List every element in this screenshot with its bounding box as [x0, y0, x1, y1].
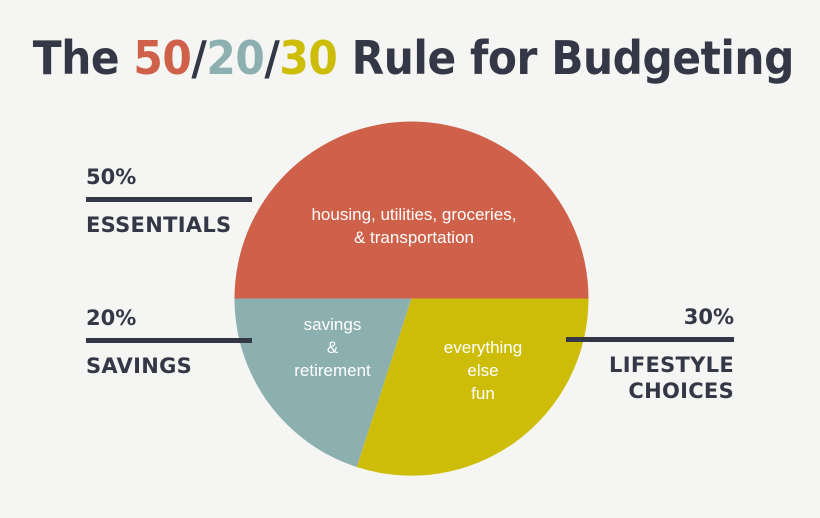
callout-lifestyle: 30% LIFESTYLE CHOICES: [566, 307, 734, 405]
callout-lifestyle-label-line1: LIFESTYLE: [566, 352, 734, 378]
pie-label-lifestyle: everything else fun: [408, 337, 558, 406]
title-part-rule: Rule for Budgeting: [337, 31, 794, 85]
callout-savings-percent: 20%: [86, 308, 252, 329]
pie-chart-svg: [234, 121, 589, 476]
callout-lifestyle-label-line2: CHOICES: [566, 378, 734, 404]
callout-essentials-percent: 50%: [86, 167, 252, 188]
title-number-20: 20: [206, 31, 264, 85]
callout-lifestyle-rule: [566, 337, 734, 342]
callout-savings-rule: [86, 338, 252, 343]
pie-label-savings-line3: retirement: [254, 360, 411, 383]
pie-label-lifestyle-line1: everything: [408, 337, 558, 360]
page-title: The 50/20/30 Rule for Budgeting: [33, 33, 787, 84]
pie-label-lifestyle-line2: else: [408, 360, 558, 383]
title-slash-2: /: [264, 31, 279, 85]
pie-label-essentials: housing, utilities, groceries, & transpo…: [279, 204, 549, 250]
title-number-50: 50: [133, 31, 191, 85]
title-part-the: The: [33, 31, 134, 85]
callout-essentials-rule: [86, 197, 252, 202]
callout-essentials: 50% ESSENTIALS: [86, 167, 252, 238]
pie-label-savings-line2: &: [254, 337, 411, 360]
pie-label-essentials-line2: & transportation: [279, 227, 549, 250]
callout-savings: 20% SAVINGS: [86, 308, 252, 379]
pie-label-savings-line1: savings: [254, 314, 411, 337]
pie-label-savings: savings & retirement: [254, 314, 411, 383]
callout-essentials-label: ESSENTIALS: [86, 212, 252, 238]
pie-label-lifestyle-line3: fun: [408, 383, 558, 406]
title-slash-1: /: [191, 31, 206, 85]
infographic-canvas: The 50/20/30 Rule for Budgeting housing,…: [0, 0, 820, 518]
pie-chart: housing, utilities, groceries, & transpo…: [234, 121, 589, 476]
callout-lifestyle-percent: 30%: [566, 307, 734, 328]
title-number-30: 30: [279, 31, 337, 85]
callout-lifestyle-label: LIFESTYLE CHOICES: [566, 352, 734, 405]
pie-label-essentials-line1: housing, utilities, groceries,: [279, 204, 549, 227]
callout-savings-label: SAVINGS: [86, 353, 252, 379]
